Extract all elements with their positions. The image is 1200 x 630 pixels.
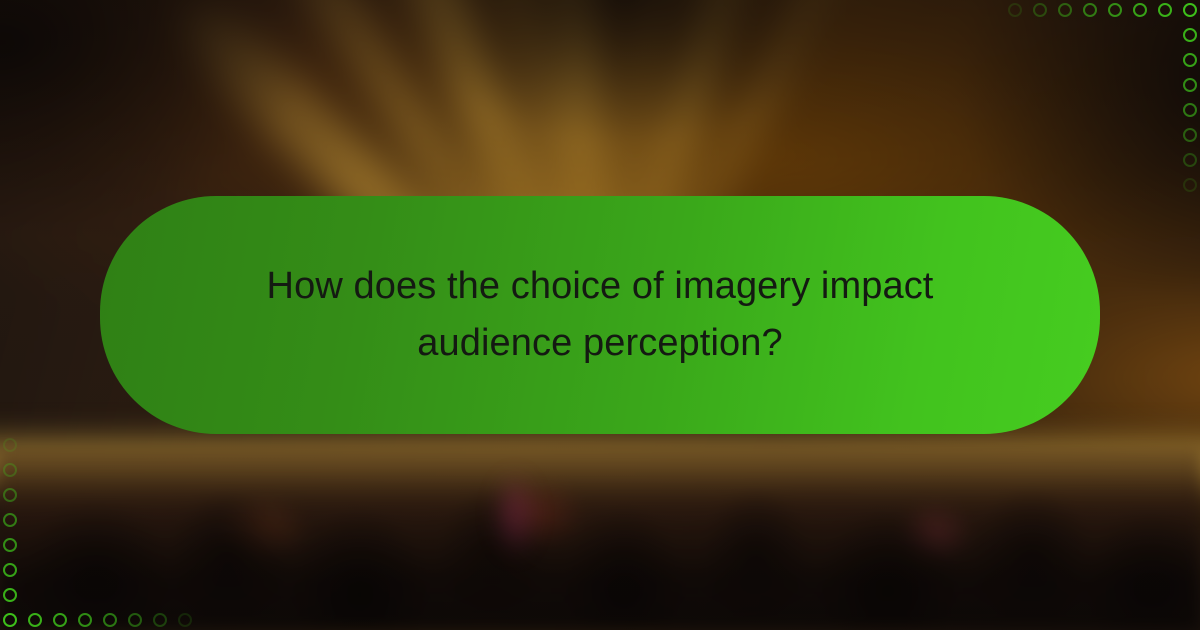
decorative-circle-icon xyxy=(3,588,17,602)
decorative-circle-icon xyxy=(3,488,17,502)
decorative-circle-icon xyxy=(1058,3,1072,17)
decorative-circle-icon xyxy=(1033,3,1047,17)
decorative-circle-icon xyxy=(1183,128,1197,142)
decorative-circle-icon xyxy=(103,613,117,627)
decorative-circle-icon xyxy=(1183,78,1197,92)
decorative-circle-icon xyxy=(28,613,42,627)
decorative-circle-icon xyxy=(128,613,142,627)
decorative-circle-icon xyxy=(3,463,17,477)
decorative-circle-icon xyxy=(1183,28,1197,42)
decorative-circle-icon xyxy=(153,613,167,627)
decorative-circle-icon xyxy=(1158,3,1172,17)
question-text: How does the choice of imagery impact au… xyxy=(250,258,950,372)
decorative-circle-icon xyxy=(3,538,17,552)
top-right-dot-pattern xyxy=(997,3,1197,203)
decorative-circle-icon xyxy=(3,438,17,452)
decorative-circle-icon xyxy=(1083,3,1097,17)
decorative-circle-icon xyxy=(3,613,17,627)
decorative-circle-icon xyxy=(1133,3,1147,17)
decorative-circle-icon xyxy=(1183,103,1197,117)
decorative-circle-icon xyxy=(78,613,92,627)
decorative-circle-icon xyxy=(1108,3,1122,17)
decorative-circle-icon xyxy=(1183,3,1197,17)
decorative-circle-icon xyxy=(1183,53,1197,67)
decorative-circle-icon xyxy=(178,613,192,627)
decorative-circle-icon xyxy=(3,563,17,577)
decorative-circle-icon xyxy=(53,613,67,627)
decorative-circle-icon xyxy=(1008,3,1022,17)
question-card: How does the choice of imagery impact au… xyxy=(100,196,1100,434)
decorative-circle-icon xyxy=(1183,178,1197,192)
screenshot-canvas: How does the choice of imagery impact au… xyxy=(0,0,1200,630)
bottom-left-dot-pattern xyxy=(3,427,203,627)
decorative-circle-icon xyxy=(1183,153,1197,167)
decorative-circle-icon xyxy=(3,513,17,527)
